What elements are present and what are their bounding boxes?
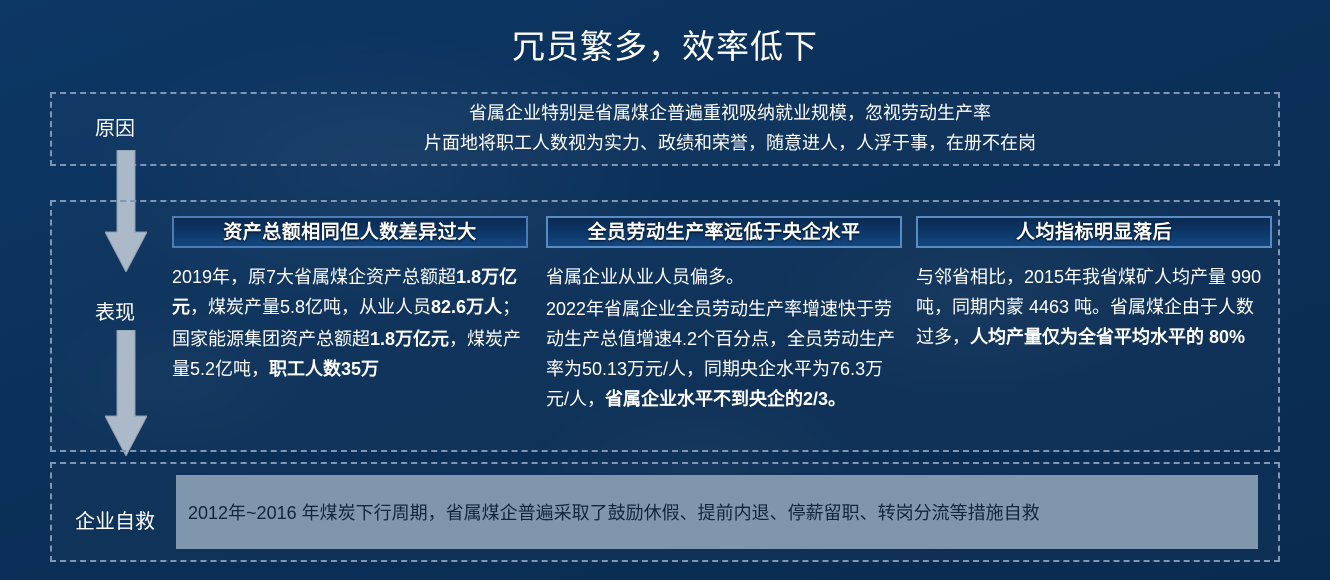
symptom-column-3-header: 人均指标明显落后 bbox=[916, 216, 1272, 248]
reason-line-2: 片面地将职工人数视为实力、政绩和荣誉，随意进人，人浮于事，在册不在岗 bbox=[190, 128, 1270, 158]
row-label-rescue: 企业自救 bbox=[50, 505, 180, 534]
row-label-symptom: 表现 bbox=[50, 296, 180, 325]
symptom-column-2: 全员劳动生产率远低于央企水平 省属企业从业人员偏多。2022年省属企业全员劳动生… bbox=[546, 216, 902, 416]
plain-text: 国家能源集团资产总额超 bbox=[172, 329, 370, 349]
text-paragraph: 国家能源集团资产总额超1.8万亿元，煤炭产量5.2亿吨，职工人数35万 bbox=[172, 324, 528, 384]
symptom-column-1-header: 资产总额相同但人数差异过大 bbox=[172, 216, 528, 248]
emphasized-text: 1.8万亿元 bbox=[370, 329, 449, 349]
reason-line-1: 省属企业特别是省属煤企普遍重视吸纳就业规模，忽视劳动生产率 bbox=[190, 98, 1270, 128]
emphasized-text: 职工人数35万 bbox=[269, 359, 379, 379]
emphasized-text: 人均产量仅为全省平均水平的 80% bbox=[970, 327, 1245, 347]
emphasized-text: 82.6万人 bbox=[431, 297, 502, 317]
text-paragraph: 省属企业从业人员偏多。 bbox=[546, 262, 902, 292]
emphasized-text: 省属企业水平不到央企的2/3。 bbox=[605, 389, 846, 409]
rescue-text-box: 2012年~2016 年煤炭下行周期，省属煤企普遍采取了鼓励休假、提前内退、停薪… bbox=[176, 475, 1258, 549]
symptom-column-3-body: 与邻省相比，2015年我省煤矿人均产量 990吨，同期内蒙 4463 吨。省属煤… bbox=[916, 262, 1272, 352]
symptom-column-2-header: 全员劳动生产率远低于央企水平 bbox=[546, 216, 902, 248]
plain-text: ，煤炭产量5.8亿吨，从业人员 bbox=[190, 297, 431, 317]
text-paragraph: 2019年，原7大省属煤企资产总额超1.8万亿元，煤炭产量5.8亿吨，从业人员8… bbox=[172, 262, 528, 322]
page-title: 冗员繁多，效率低下 bbox=[0, 20, 1330, 68]
plain-text: 2019年，原7大省属煤企资产总额超 bbox=[172, 267, 456, 287]
text-paragraph: 与邻省相比，2015年我省煤矿人均产量 990吨，同期内蒙 4463 吨。省属煤… bbox=[916, 262, 1272, 352]
plain-text: 省属企业从业人员偏多。 bbox=[546, 267, 744, 287]
symptom-column-1: 资产总额相同但人数差异过大 2019年，原7大省属煤企资产总额超1.8万亿元，煤… bbox=[172, 216, 528, 386]
reason-text: 省属企业特别是省属煤企普遍重视吸纳就业规模，忽视劳动生产率 片面地将职工人数视为… bbox=[190, 98, 1270, 158]
plain-text: ； bbox=[502, 297, 520, 317]
symptom-column-1-body: 2019年，原7大省属煤企资产总额超1.8万亿元，煤炭产量5.8亿吨，从业人员8… bbox=[172, 262, 528, 384]
symptom-column-3: 人均指标明显落后 与邻省相比，2015年我省煤矿人均产量 990吨，同期内蒙 4… bbox=[916, 216, 1272, 354]
rescue-text: 2012年~2016 年煤炭下行周期，省属煤企普遍采取了鼓励休假、提前内退、停薪… bbox=[188, 499, 1040, 525]
text-paragraph: 2022年省属企业全员劳动生产率增速快于劳动生产总值增速4.2个百分点，全员劳动… bbox=[546, 294, 902, 414]
symptom-column-2-body: 省属企业从业人员偏多。2022年省属企业全员劳动生产率增速快于劳动生产总值增速4… bbox=[546, 262, 902, 414]
row-label-reason: 原因 bbox=[50, 112, 180, 141]
